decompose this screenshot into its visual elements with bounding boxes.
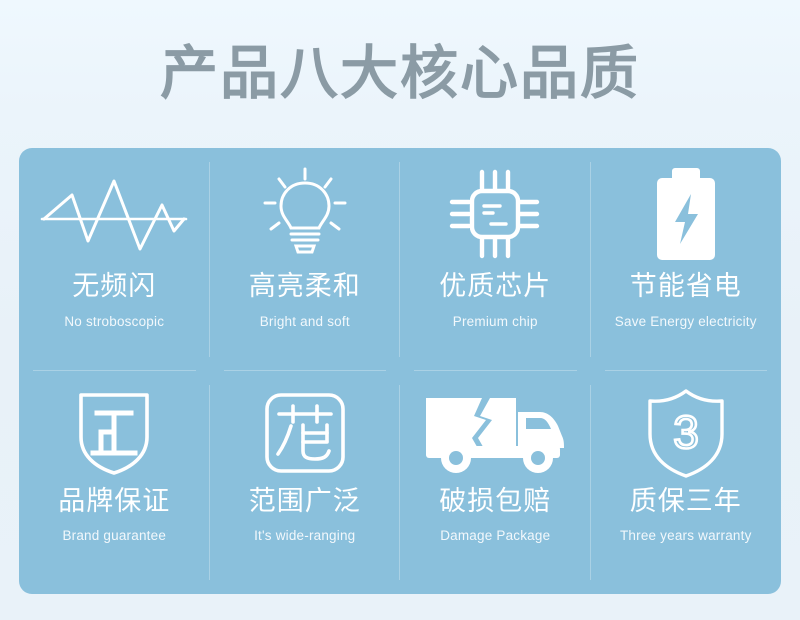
feature-cell-no-stroboscopic[interactable]: 无频闪 No stroboscopic	[19, 148, 210, 371]
feature-label-en: Bright and soft	[260, 313, 350, 331]
feature-cell-brand-guarantee[interactable]: 品牌保证 Brand guarantee	[19, 371, 210, 594]
feature-cell-premium-chip[interactable]: 优质芯片 Premium chip	[400, 148, 591, 371]
lightbulb-icon	[257, 160, 353, 268]
feature-label-cn: 优质芯片	[439, 270, 551, 302]
cpu-chip-icon	[448, 160, 542, 268]
page-title: 产品八大核心品质	[0, 38, 800, 110]
feature-label-en: Premium chip	[453, 313, 538, 331]
waveform-flicker-icon	[40, 160, 188, 268]
product-quality-infographic: 产品八大核心品质 无频闪 No stroboscopic	[0, 0, 800, 620]
feature-cell-wide-ranging[interactable]: 范围广泛 It's wide-ranging	[210, 371, 401, 594]
square-fan-icon	[261, 383, 349, 483]
warranty-number-label: 3	[673, 406, 699, 458]
feature-label-cn: 破损包赔	[439, 485, 551, 517]
feature-cell-save-energy[interactable]: 节能省电 Save Energy electricity	[591, 148, 782, 371]
battery-bolt-icon	[651, 160, 721, 268]
feature-label-cn: 高亮柔和	[249, 270, 361, 302]
feature-label-en: It's wide-ranging	[254, 527, 355, 545]
feature-cell-bright-and-soft[interactable]: 高亮柔和 Bright and soft	[210, 148, 401, 371]
feature-label-en: Save Energy electricity	[615, 313, 757, 331]
feature-label-en: Damage Package	[440, 527, 550, 545]
feature-label-en: Brand guarantee	[62, 527, 166, 545]
feature-label-en: Three years warranty	[620, 527, 752, 545]
shield-three-years-icon: 3	[643, 383, 729, 483]
broken-package-truck-icon	[420, 383, 570, 483]
feature-label-cn: 节能省电	[630, 270, 742, 302]
feature-label-cn: 品牌保证	[58, 485, 170, 517]
feature-cell-three-years-warranty[interactable]: 3 质保三年 Three years warranty	[591, 371, 782, 594]
feature-label-cn: 范围广泛	[249, 485, 361, 517]
feature-label-en: No stroboscopic	[64, 313, 164, 331]
shield-zheng-icon	[71, 383, 157, 483]
feature-cell-damage-package[interactable]: 破损包赔 Damage Package	[400, 371, 591, 594]
feature-grid: 无频闪 No stroboscopic	[19, 148, 781, 594]
feature-label-cn: 无频闪	[72, 270, 156, 302]
feature-label-cn: 质保三年	[630, 485, 742, 517]
